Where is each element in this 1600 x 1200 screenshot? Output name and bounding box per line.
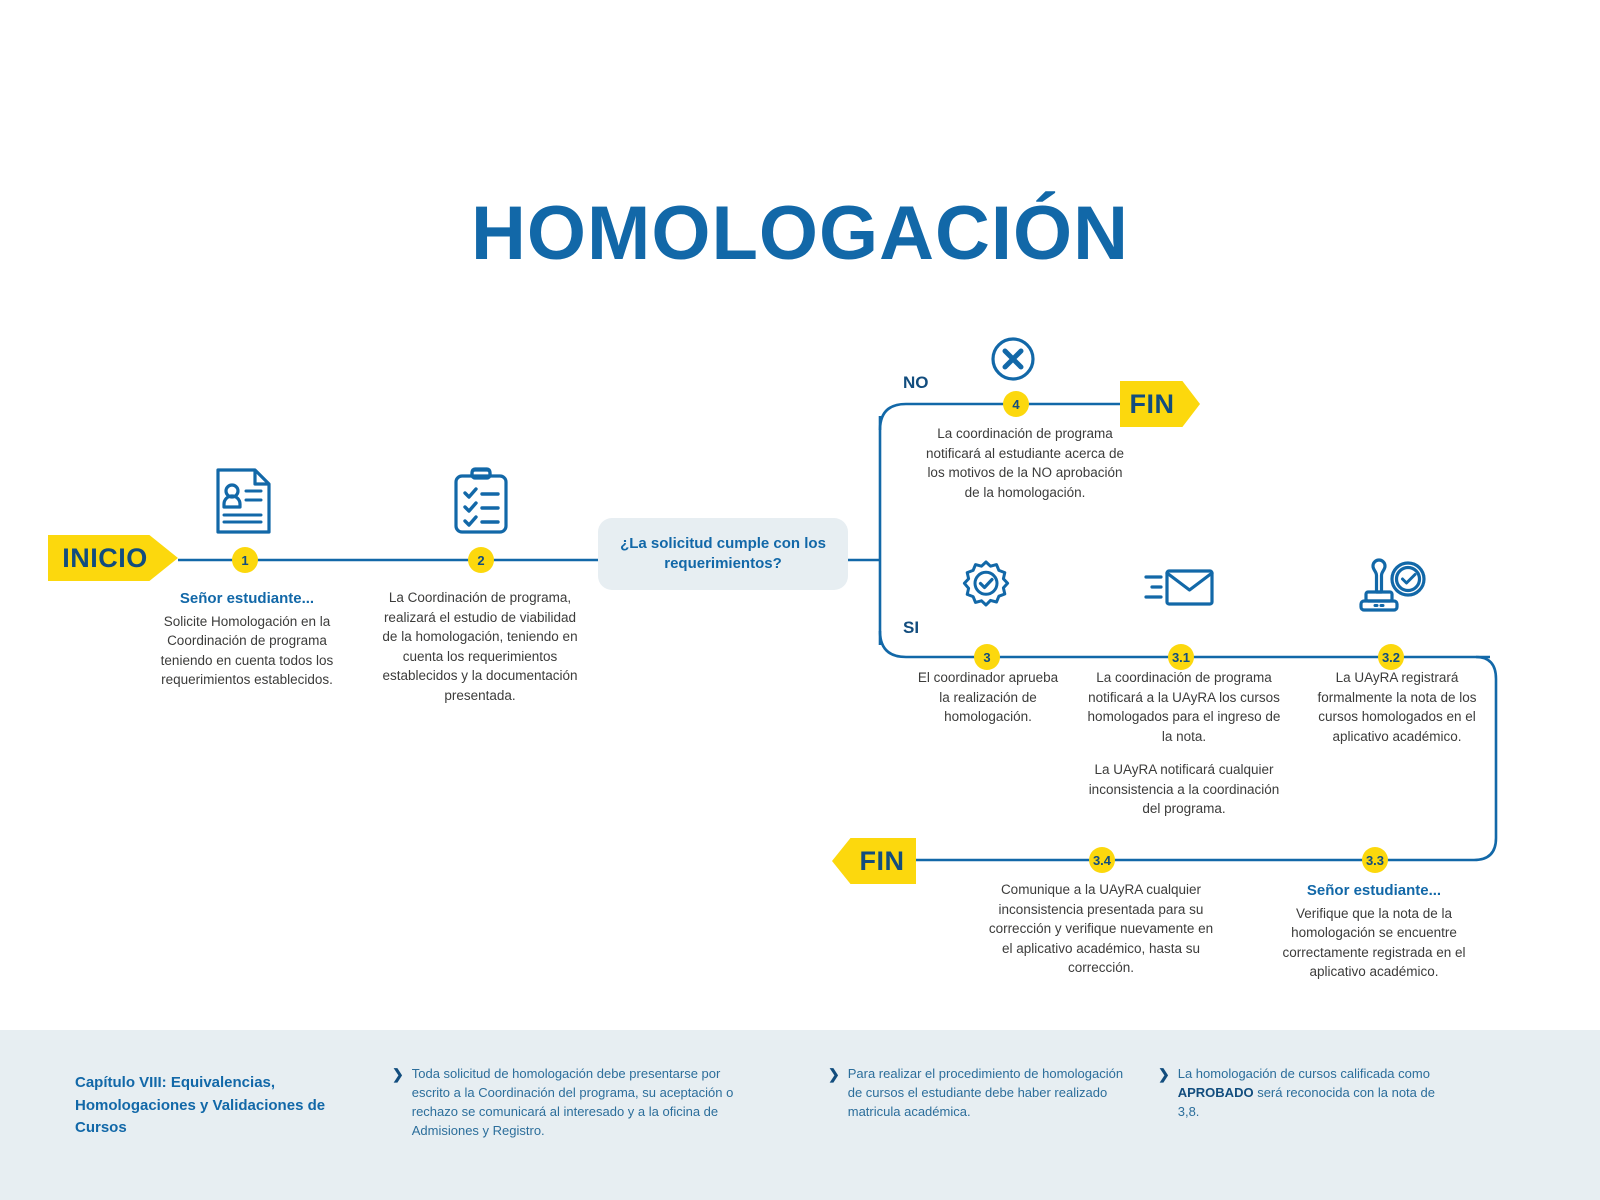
branch-label-no: NO (903, 373, 929, 393)
step-body-3-3: Verifique que la nota de la homologación… (1268, 904, 1480, 982)
step-body-2: La Coordinación de programa, realizará e… (380, 588, 580, 705)
step-badge-3: 3 (974, 644, 1000, 670)
page-title: HOMOLOGACIÓN (0, 190, 1600, 277)
step-badge-4: 4 (1003, 391, 1029, 417)
stamp-check-icon (1355, 558, 1427, 621)
step-text-3-1: La coordinación de programa notificará a… (1085, 668, 1283, 819)
badge-check-icon (960, 560, 1012, 617)
footer-note-3-strong: APROBADO (1178, 1085, 1254, 1100)
step-badge-3-3: 3.3 (1362, 847, 1388, 873)
step-text-3-2: La UAyRA registrará formalmente la nota … (1312, 668, 1482, 746)
step-text-3: El coordinador aprueba la realización de… (912, 668, 1064, 727)
step-body-3-1: La coordinación de programa notificará a… (1085, 668, 1283, 746)
decision-box: ¿La solicitud cumple con los requerimien… (598, 518, 848, 590)
footer-note-1: ❯ Toda solicitud de homologación debe pr… (392, 1065, 752, 1140)
branch-label-si: SI (903, 618, 919, 638)
step-text-4: La coordinación de programa notificará a… (925, 424, 1125, 502)
fin-tag-no: FIN (1120, 381, 1200, 427)
step-heading-3-3: Señor estudiante... (1268, 880, 1480, 902)
footer-note-3-pre: La homologación de cursos calificada com… (1178, 1066, 1430, 1081)
inicio-tag: INICIO (48, 535, 178, 581)
envelope-send-icon (1143, 563, 1215, 616)
step-heading-1: Señor estudiante... (140, 588, 354, 610)
step-body-3-2: La UAyRA registrará formalmente la nota … (1312, 668, 1482, 746)
footer-note-3-text: La homologación de cursos calificada com… (1178, 1065, 1458, 1122)
x-circle-icon (990, 336, 1036, 387)
step-body-3: El coordinador aprueba la realización de… (912, 668, 1064, 727)
footer-chapter-title: Capítulo VIII: Equivalencias, Homologaci… (75, 1072, 375, 1140)
footer-note-2-text: Para realizar el procedimiento de homolo… (848, 1065, 1128, 1122)
fin-tag-si: FIN (832, 838, 916, 884)
arrow-bullet-icon: ❯ (828, 1065, 840, 1122)
step-body-4: La coordinación de programa notificará a… (925, 424, 1125, 502)
step-badge-1: 1 (232, 547, 258, 573)
infographic-canvas: HOMOLOGACIÓN INICIO (0, 0, 1600, 1200)
step-body-3-4: Comunique a la UAyRA cualquier inconsist… (984, 880, 1218, 978)
clipboard-checklist-icon (452, 466, 510, 541)
step-text-1: Señor estudiante... Solicite Homologació… (140, 588, 354, 690)
step-text-3-3: Señor estudiante... Verifique que la not… (1268, 880, 1480, 982)
arrow-bullet-icon: ❯ (1158, 1065, 1170, 1122)
step-badge-3-2: 3.2 (1378, 644, 1404, 670)
step-text-2: La Coordinación de programa, realizará e… (380, 588, 580, 705)
step-badge-2: 2 (468, 547, 494, 573)
step-badge-3-4: 3.4 (1089, 847, 1115, 873)
document-person-icon (213, 466, 277, 541)
arrow-bullet-icon: ❯ (392, 1065, 404, 1140)
footer-note-1-text: Toda solicitud de homologación debe pres… (412, 1065, 752, 1140)
step-badge-3-1: 3.1 (1168, 644, 1194, 670)
footer-note-3: ❯ La homologación de cursos calificada c… (1158, 1065, 1458, 1122)
step-body2-3-1: La UAyRA notificará cualquier inconsiste… (1085, 760, 1283, 819)
step-body-1: Solicite Homologación en la Coordinación… (140, 612, 354, 690)
step-text-3-4: Comunique a la UAyRA cualquier inconsist… (984, 880, 1218, 978)
footer-note-2: ❯ Para realizar el procedimiento de homo… (828, 1065, 1128, 1122)
